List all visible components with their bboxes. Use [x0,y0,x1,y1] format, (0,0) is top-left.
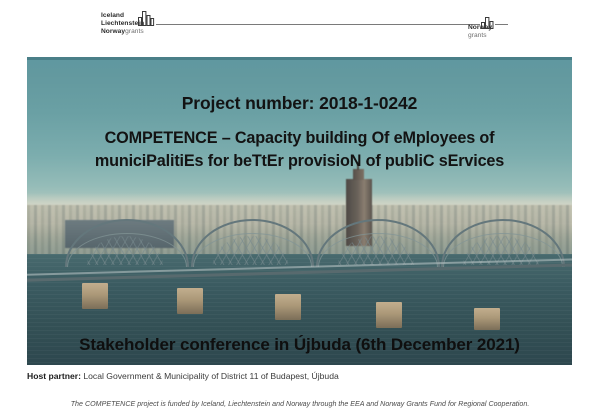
project-title: COMPETENCE – Capacity building Of eMploy… [27,127,572,174]
funding-note: The COMPETENCE project is funded by Icel… [0,400,600,408]
project-title-line-2: municiPalitiEs for beTtEr provisioN of p… [27,150,572,173]
hero-banner: Project number: 2018-1-0242 COMPETENCE –… [27,57,572,365]
host-partner-value: Local Government & Municipality of Distr… [81,371,339,381]
grants-building-mark-icon [138,11,156,31]
project-number: Project number: 2018-1-0242 [27,93,572,114]
header-divider-rule-right-right [495,24,508,25]
conference-heading: Stakeholder conference in Újbuda (6th De… [27,335,572,355]
host-partner-label: Host partner: [27,371,81,381]
project-title-line-1: COMPETENCE – Capacity building Of eMploy… [27,127,572,150]
header-divider-rule [156,24,476,25]
header-logo-strip: Iceland Liechtenstein Norwaygrants Norwa… [0,0,600,50]
host-partner: Host partner: Local Government & Municip… [27,371,339,381]
hero-text-overlay: Project number: 2018-1-0242 COMPETENCE –… [27,57,572,365]
logo-norway-bold: Norway [101,28,125,35]
grants-building-mark-icon-right [481,16,495,34]
